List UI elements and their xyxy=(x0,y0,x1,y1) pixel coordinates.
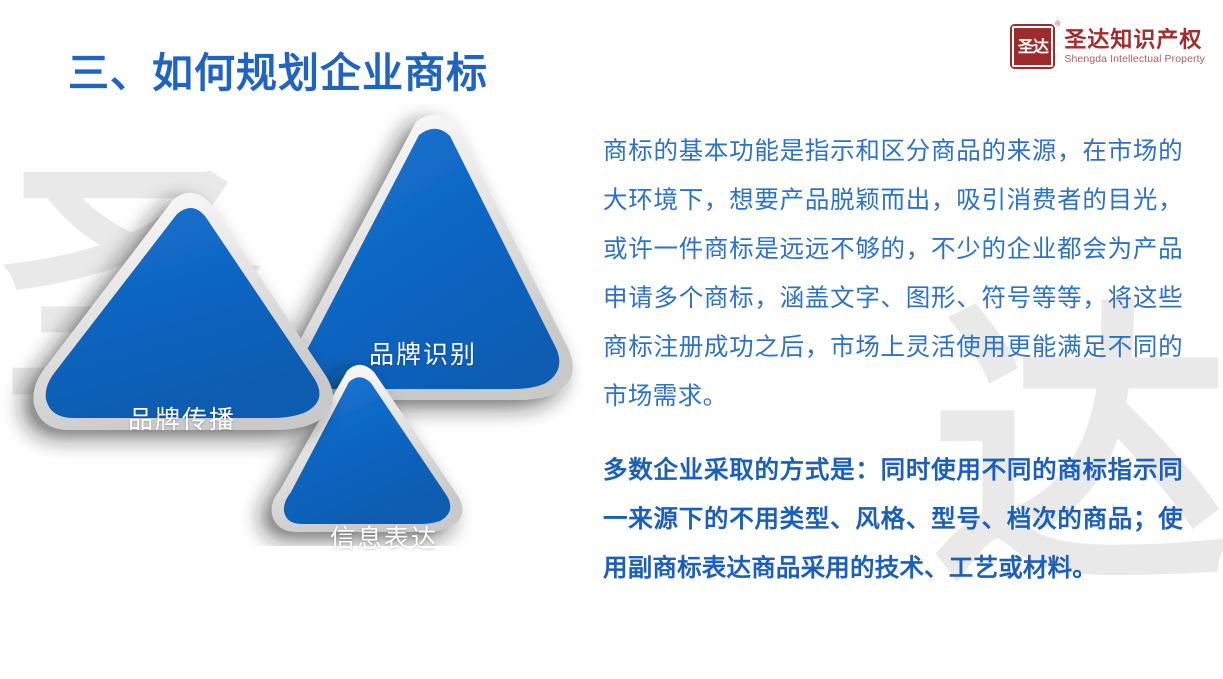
slide-canvas: 圣 达 三、如何规划企业商标 圣达 ® 圣达知识产权 Shengda Intel… xyxy=(0,0,1223,679)
triangle-shape-brand-identity xyxy=(288,114,573,400)
page-title: 三、如何规划企业商标 xyxy=(68,49,488,98)
seal-glyph: 圣达 xyxy=(1012,26,1053,67)
paragraph-intro: 商标的基本功能是指示和区分商品的来源，在市场的大环境下，想要产品脱颖而出，吸引消… xyxy=(603,126,1183,420)
brand-name-block: 圣达知识产权 Shengda Intellectual Property xyxy=(1064,29,1205,65)
paragraph-emphasis: 多数企业采取的方式是：同时使用不同的商标指示同一来源下的不用类型、风格、型号、档… xyxy=(603,445,1183,592)
brand-name-en: Shengda Intellectual Property xyxy=(1064,54,1205,65)
brand-name-cn: 圣达知识产权 xyxy=(1064,29,1205,51)
triangle-shape-brand-communication xyxy=(33,193,333,430)
company-seal-icon: 圣达 ® xyxy=(1010,24,1055,69)
registered-mark-icon: ® xyxy=(1055,21,1060,28)
body-copy: 商标的基本功能是指示和区分商品的来源，在市场的大环境下，想要产品脱颖而出，吸引消… xyxy=(603,126,1183,592)
brand-logo: 圣达 ® 圣达知识产权 Shengda Intellectual Propert… xyxy=(1010,24,1205,69)
triangle-diagram: 品牌传播 品牌识别 信息表达 xyxy=(0,96,600,546)
